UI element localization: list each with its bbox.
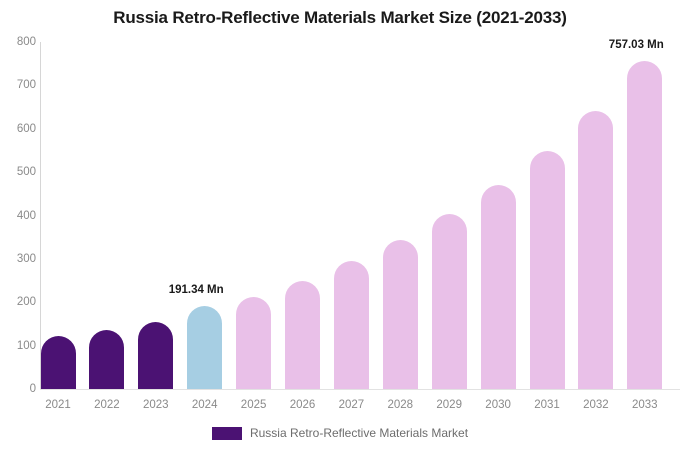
y-axis-tick-700: 700 (2, 79, 36, 91)
bar-value-label-2033: 757.03 Mn (609, 39, 664, 51)
bar-2026[interactable] (285, 281, 320, 389)
y-axis-tick-500: 500 (2, 166, 36, 178)
bar-value-label-2024: 191.34 Mn (169, 284, 224, 296)
bar-2024[interactable] (187, 306, 222, 389)
bar-2027[interactable] (334, 261, 369, 389)
y-axis-tick-200: 200 (2, 296, 36, 308)
y-axis-tick-300: 300 (2, 253, 36, 265)
legend-swatch-russia-retro-reflective-materials-market (212, 427, 242, 440)
y-axis-tick-400: 400 (2, 210, 36, 222)
chart-legend: Russia Retro-Reflective Materials Market (0, 426, 680, 440)
y-axis-tick-labels: 8007006005004003002001000 (0, 0, 36, 450)
plot-area (40, 42, 680, 389)
bar-2032[interactable] (578, 111, 613, 389)
legend-label-russia-retro-reflective-materials-market: Russia Retro-Reflective Materials Market (250, 426, 468, 440)
bar-2031[interactable] (530, 151, 565, 389)
bar-2022[interactable] (89, 330, 124, 389)
chart-title: Russia Retro-Reflective Materials Market… (0, 8, 680, 28)
bar-chart: Russia Retro-Reflective Materials Market… (0, 0, 680, 450)
bar-2029[interactable] (432, 214, 467, 389)
bar-2025[interactable] (236, 297, 271, 389)
y-axis-tick-800: 800 (2, 36, 36, 48)
y-axis-tick-100: 100 (2, 340, 36, 352)
bar-2021[interactable] (41, 336, 76, 389)
x-axis-line (40, 389, 680, 390)
x-axis-tick-2033: 2033 (615, 399, 675, 411)
bar-2030[interactable] (481, 185, 516, 389)
bar-2023[interactable] (138, 322, 173, 389)
bar-2033[interactable] (627, 61, 662, 389)
y-axis-tick-600: 600 (2, 123, 36, 135)
bar-2028[interactable] (383, 240, 418, 389)
y-axis-tick-0: 0 (2, 383, 36, 395)
